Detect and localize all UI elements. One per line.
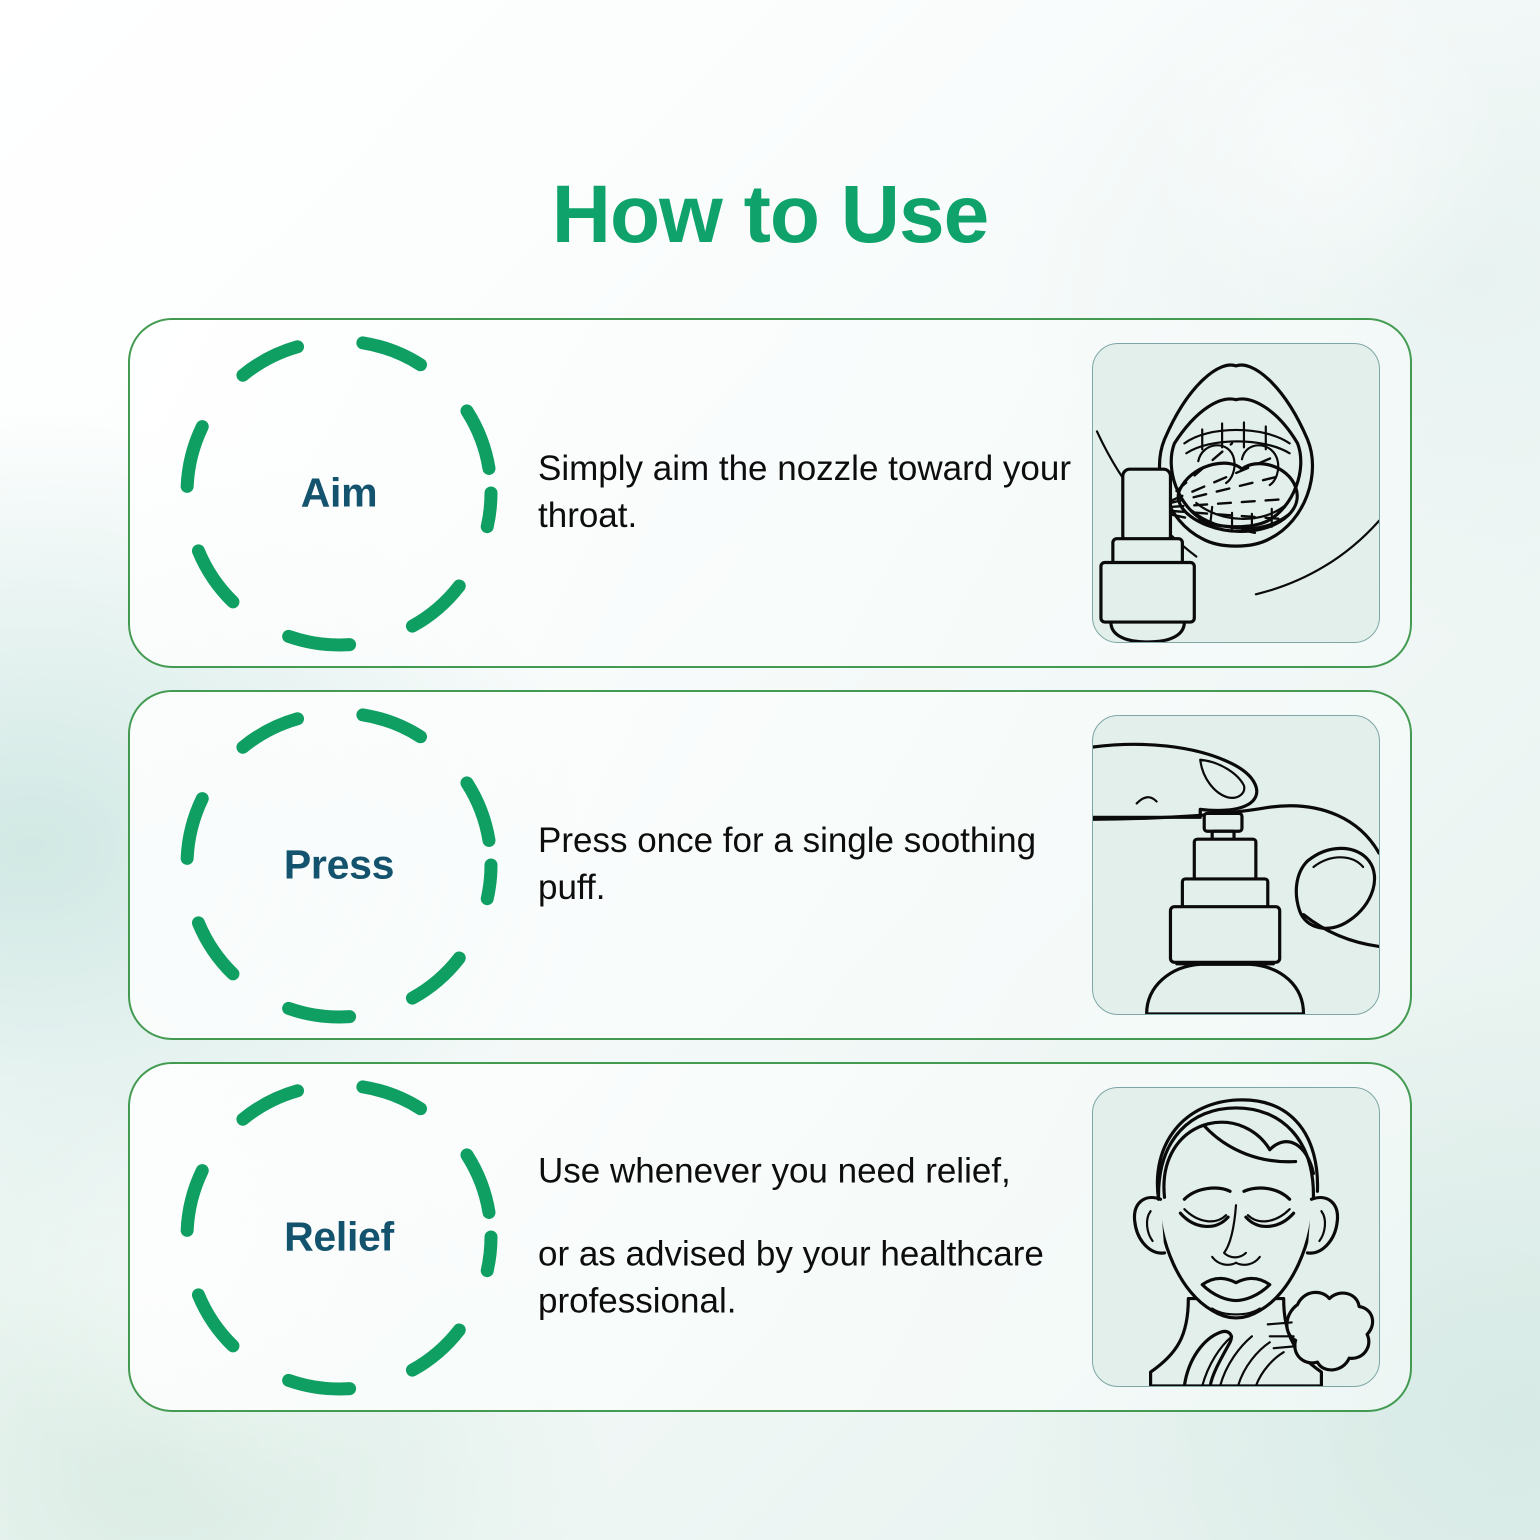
step-description: Use whenever you need relief, or as advi… [538,1149,1098,1326]
step-dashed-circle: Relief [172,1070,506,1404]
step-paragraph: or as advised by your healthcare profess… [538,1232,1098,1326]
step-card-aim: Aim Simply aim the nozzle toward your th… [128,318,1412,668]
step-dashed-circle: Aim [172,326,506,660]
page-title: How to Use [0,168,1540,262]
step-description: Press once for a single soothing puff. [538,818,1098,912]
step-paragraph: Simply aim the nozzle toward your throat… [538,446,1098,540]
step-dashed-circle: Press [172,698,506,1032]
step-card-relief: Relief Use whenever you need relief, or … [128,1062,1412,1412]
step-label: Press [172,842,506,889]
step-label: Aim [172,470,506,517]
step-label: Relief [172,1214,506,1261]
illustration-open-mouth-throat-spray [1092,343,1380,643]
step-paragraph: Use whenever you need relief, [538,1149,1098,1196]
step-description: Simply aim the nozzle toward your throat… [538,446,1098,540]
illustration-finger-pressing-pump [1092,715,1380,1015]
step-card-press: Press Press once for a single soothing p… [128,690,1412,1040]
step-paragraph: Press once for a single soothing puff. [538,818,1098,912]
illustration-calm-face-soothed-throat [1092,1087,1380,1387]
